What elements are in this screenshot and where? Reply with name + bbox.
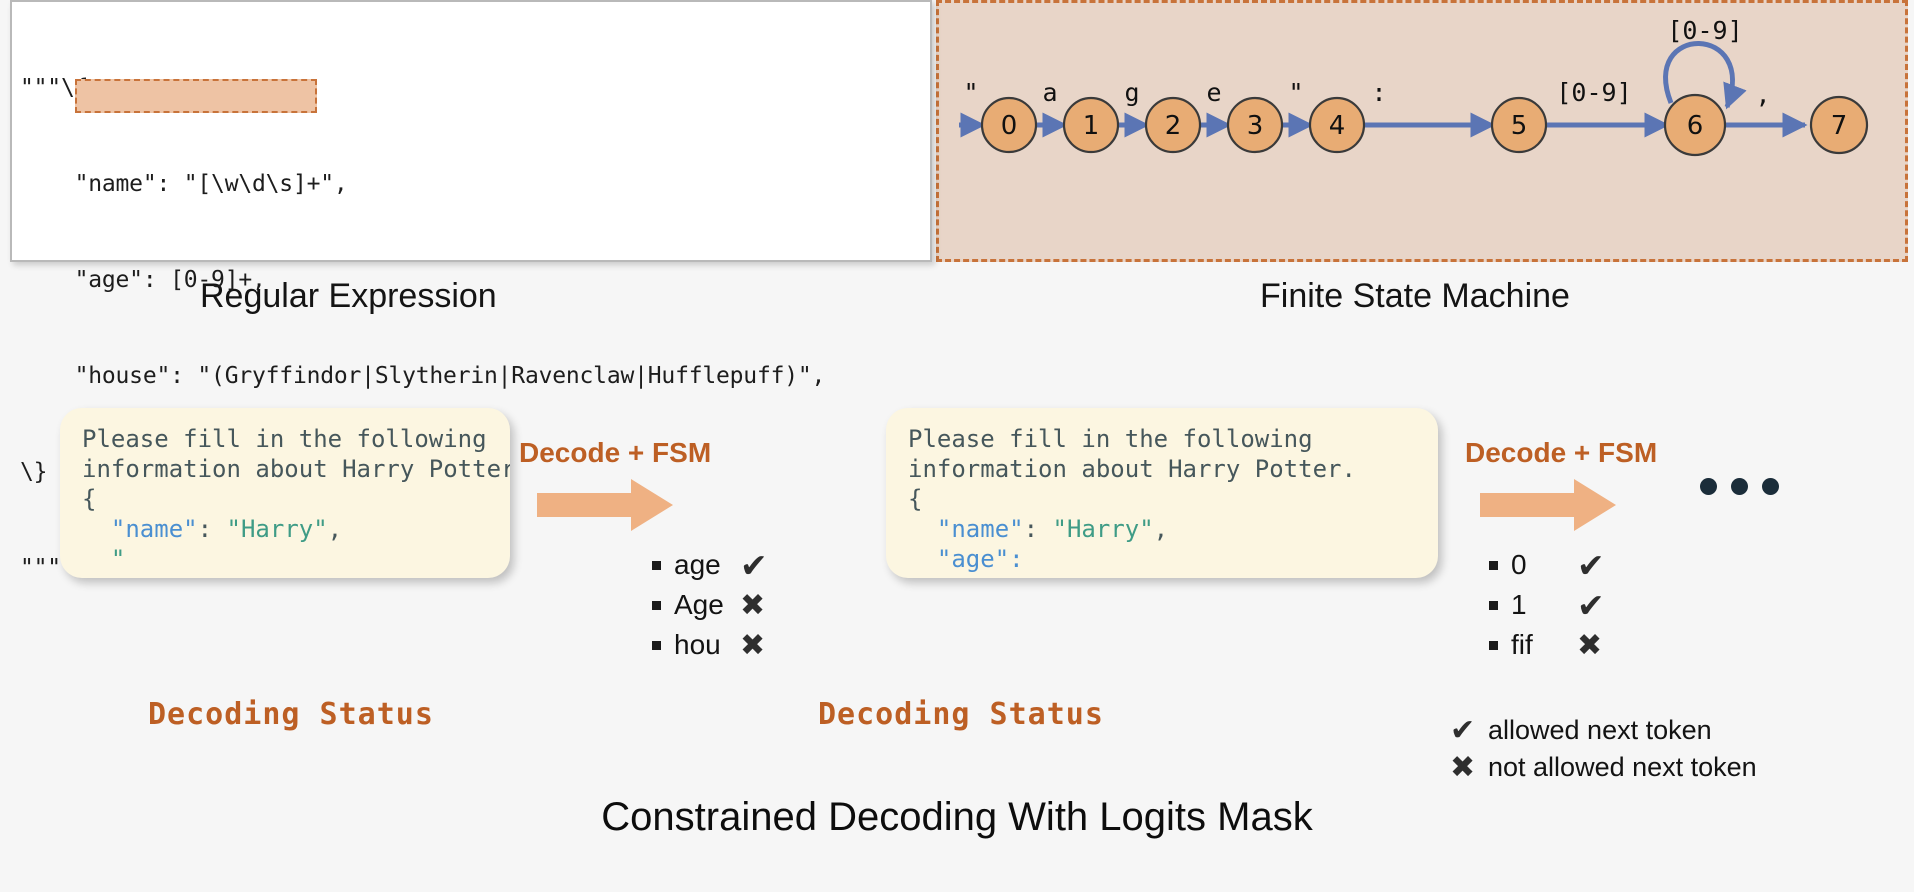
figure-title: Constrained Decoding With Logits Mask bbox=[0, 795, 1914, 840]
cross-icon: ✖ bbox=[1450, 750, 1488, 785]
regex-line-4: \} bbox=[20, 456, 825, 488]
fsm-node-label-6: 6 bbox=[1687, 111, 1704, 141]
bullet-icon bbox=[1489, 561, 1498, 570]
decode-fsm-heading-2: Decode + FSM bbox=[1465, 437, 1657, 469]
fsm-edge-label-a: a bbox=[1042, 78, 1057, 107]
card-2-prompt-line-2: information about Harry Potter. bbox=[908, 455, 1356, 483]
card-2-key-name: "name" bbox=[937, 515, 1024, 543]
fsm-edge-label-quote: " bbox=[1288, 78, 1303, 107]
age-pattern-highlight[interactable] bbox=[75, 79, 317, 113]
card-2-value-name: "Harry" bbox=[1053, 515, 1154, 543]
legend-label: not allowed next token bbox=[1488, 752, 1757, 783]
ellipsis-dot bbox=[1762, 478, 1779, 495]
card-2-colon: : bbox=[1024, 515, 1053, 543]
legend-row-not-allowed: ✖ not allowed next token bbox=[1450, 749, 1757, 786]
token-label: fif bbox=[1511, 629, 1573, 661]
fsm-node-label-3: 3 bbox=[1247, 111, 1264, 141]
caption-finite-state-machine: Finite State Machine bbox=[1260, 277, 1570, 316]
decoding-status-label-right: Decoding Status bbox=[818, 697, 1104, 732]
fsm-edge-label-comma: , bbox=[1755, 80, 1770, 109]
fsm-node-label-1: 1 bbox=[1083, 111, 1100, 141]
legend: ✔ allowed next token ✖ not allowed next … bbox=[1450, 712, 1757, 786]
fsm-node-label-2: 2 bbox=[1165, 111, 1182, 141]
legend-label: allowed next token bbox=[1488, 715, 1712, 746]
fsm-edge-label-colon: : bbox=[1371, 78, 1386, 107]
card-2-indent bbox=[908, 515, 937, 543]
token-row[interactable]: fif ✖ bbox=[1489, 625, 1605, 665]
legend-row-allowed: ✔ allowed next token bbox=[1450, 712, 1757, 749]
check-icon: ✔ bbox=[1450, 713, 1488, 748]
fsm-edge-label-e: e bbox=[1206, 78, 1221, 107]
token-list-step-2: 0 ✔ 1 ✔ fif ✖ bbox=[1489, 545, 1605, 665]
prompt-card-step-2: Please fill in the following information… bbox=[886, 408, 1438, 578]
regex-line-5: """ bbox=[20, 552, 825, 584]
fsm-edge-label-selfloop-digit: [0-9] bbox=[1667, 16, 1742, 45]
check-icon: ✔ bbox=[1577, 546, 1605, 585]
fsm-edge-label-digit: [0-9] bbox=[1556, 78, 1631, 107]
regex-line-1: "name": "[\w\d\s]+", bbox=[20, 168, 825, 200]
regular-expression-panel: """\{ "name": "[\w\d\s]+", "age": [0-9]+… bbox=[10, 0, 932, 262]
fsm-edge-label-g: g bbox=[1124, 78, 1139, 107]
finite-state-machine-panel: 0 1 2 3 4 5 6 7 " a g e " : [0-9] [0-9] … bbox=[936, 0, 1908, 262]
check-icon: ✔ bbox=[1577, 586, 1605, 625]
cross-icon: ✖ bbox=[1577, 628, 1602, 663]
bullet-icon bbox=[1489, 641, 1498, 650]
card-2-brace: { bbox=[908, 485, 922, 513]
fsm-node-label-7: 7 bbox=[1831, 111, 1848, 141]
token-row[interactable]: 1 ✔ bbox=[1489, 585, 1605, 625]
card-2-indent-2 bbox=[908, 545, 937, 573]
card-2-code: Please fill in the following information… bbox=[908, 424, 1416, 574]
fsm-diagram: 0 1 2 3 4 5 6 7 " a g e " : [0-9] [0-9] … bbox=[939, 3, 1905, 259]
ellipsis-dot bbox=[1700, 478, 1717, 495]
regex-line-2: "age": [0-9]+, bbox=[20, 264, 825, 296]
card-2-comma: , bbox=[1154, 515, 1168, 543]
fsm-node-label-0: 0 bbox=[1001, 111, 1018, 141]
token-row[interactable]: 0 ✔ bbox=[1489, 545, 1605, 585]
continuation-ellipsis-icon bbox=[1700, 478, 1779, 495]
fsm-node-label-4: 4 bbox=[1329, 111, 1346, 141]
decode-arrow-2-icon bbox=[1478, 477, 1618, 533]
card-2-partial-colon: : bbox=[1009, 545, 1023, 573]
fsm-node-label-5: 5 bbox=[1511, 111, 1528, 141]
fsm-edge-label-start: " bbox=[963, 78, 978, 107]
token-label: 1 bbox=[1511, 589, 1573, 621]
card-2-partial-key: "age" bbox=[937, 545, 1009, 573]
card-2-prompt-line-1: Please fill in the following bbox=[908, 425, 1313, 453]
bullet-icon bbox=[1489, 601, 1498, 610]
decoding-status-label-left: Decoding Status bbox=[148, 697, 434, 732]
ellipsis-dot bbox=[1731, 478, 1748, 495]
token-label: 0 bbox=[1511, 549, 1573, 581]
regex-line-3: "house": "(Gryffindor|Slytherin|Ravencla… bbox=[20, 360, 825, 392]
